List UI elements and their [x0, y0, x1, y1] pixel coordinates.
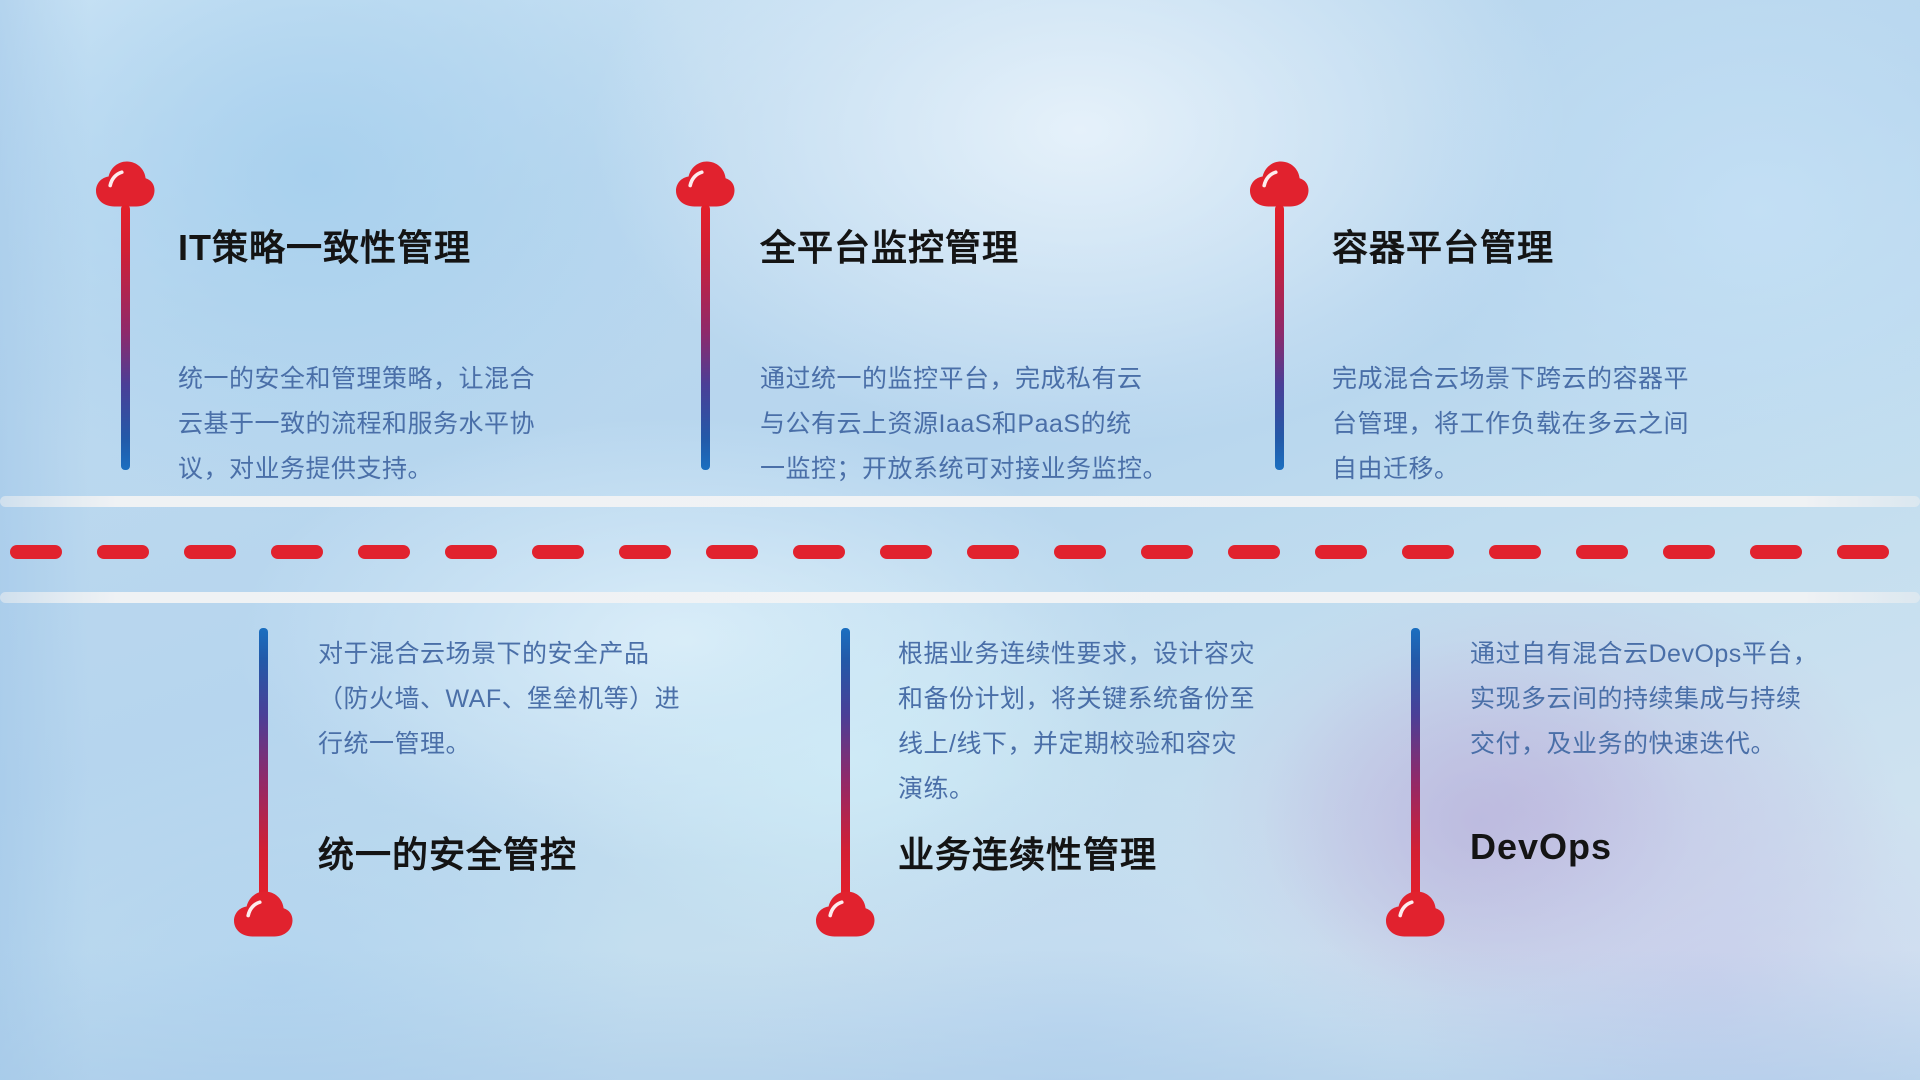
dash-segment — [1054, 545, 1106, 559]
dash-segment — [1402, 545, 1454, 559]
connector-line — [1275, 205, 1284, 470]
dash-segment — [271, 545, 323, 559]
dash-segment — [880, 545, 932, 559]
connector-line — [121, 205, 130, 470]
dash-segment — [1663, 545, 1715, 559]
dash-segment — [1141, 545, 1193, 559]
cloud-icon — [1384, 890, 1446, 938]
dash-segment — [532, 545, 584, 559]
dash-segment — [1837, 545, 1889, 559]
dash-segment — [445, 545, 497, 559]
divider-rule-line — [0, 496, 1920, 507]
item-heading: 统一的安全管控 — [318, 826, 577, 878]
cloud-icon — [232, 890, 294, 938]
background-edge-left — [0, 0, 90, 1080]
dash-segment — [184, 545, 236, 559]
item-description: 对于混合云场景下的安全产品 （防火墙、WAF、堡垒机等）进 行统一管理。 — [318, 632, 748, 767]
item-heading: 全平台监控管理 — [760, 219, 1019, 271]
dash-segment — [1576, 545, 1628, 559]
dash-segment — [1489, 545, 1541, 559]
item-description: 通过统一的监控平台，完成私有云 与公有云上资源IaaS和PaaS的统 一监控；开… — [760, 357, 1210, 492]
dash-segment — [619, 545, 671, 559]
item-description: 统一的安全和管理策略，让混合 云基于一致的流程和服务水平协 议，对业务提供支持。 — [178, 357, 608, 492]
connector-line — [841, 628, 850, 900]
divider-bottom-rule — [0, 592, 1920, 603]
dash-segment — [1750, 545, 1802, 559]
item-heading: DevOps — [1470, 826, 1612, 868]
dash-segment — [706, 545, 758, 559]
dash-segment — [1228, 545, 1280, 559]
dash-segment — [793, 545, 845, 559]
connector-line — [1411, 628, 1420, 900]
item-heading: 容器平台管理 — [1332, 219, 1554, 271]
divider-dashed-line — [0, 545, 1920, 559]
dash-segment — [1315, 545, 1367, 559]
dash-segment — [358, 545, 410, 559]
cloud-icon — [674, 160, 736, 208]
dashed-line-track — [0, 545, 1920, 559]
divider-top-rule — [0, 496, 1920, 507]
background-edge-bottom — [0, 950, 1920, 1080]
dash-group — [10, 545, 1920, 559]
item-heading: 业务连续性管理 — [898, 826, 1157, 878]
item-description: 完成混合云场景下跨云的容器平 台管理，将工作负载在多云之间 自由迁移。 — [1332, 357, 1772, 492]
cloud-icon — [94, 160, 156, 208]
item-description: 根据业务连续性要求，设计容灾 和备份计划，将关键系统备份至 线上/线下，并定期校… — [898, 632, 1338, 812]
cloud-icon — [1248, 160, 1310, 208]
cloud-icon — [814, 890, 876, 938]
item-description: 通过自有混合云DevOps平台， 实现多云间的持续集成与持续 交付，及业务的快速… — [1470, 632, 1900, 767]
item-heading: IT策略一致性管理 — [178, 219, 471, 271]
dash-segment — [97, 545, 149, 559]
dash-segment — [10, 545, 62, 559]
connector-line — [259, 628, 268, 900]
divider-rule-line — [0, 592, 1920, 603]
connector-line — [701, 205, 710, 470]
dash-segment — [967, 545, 1019, 559]
